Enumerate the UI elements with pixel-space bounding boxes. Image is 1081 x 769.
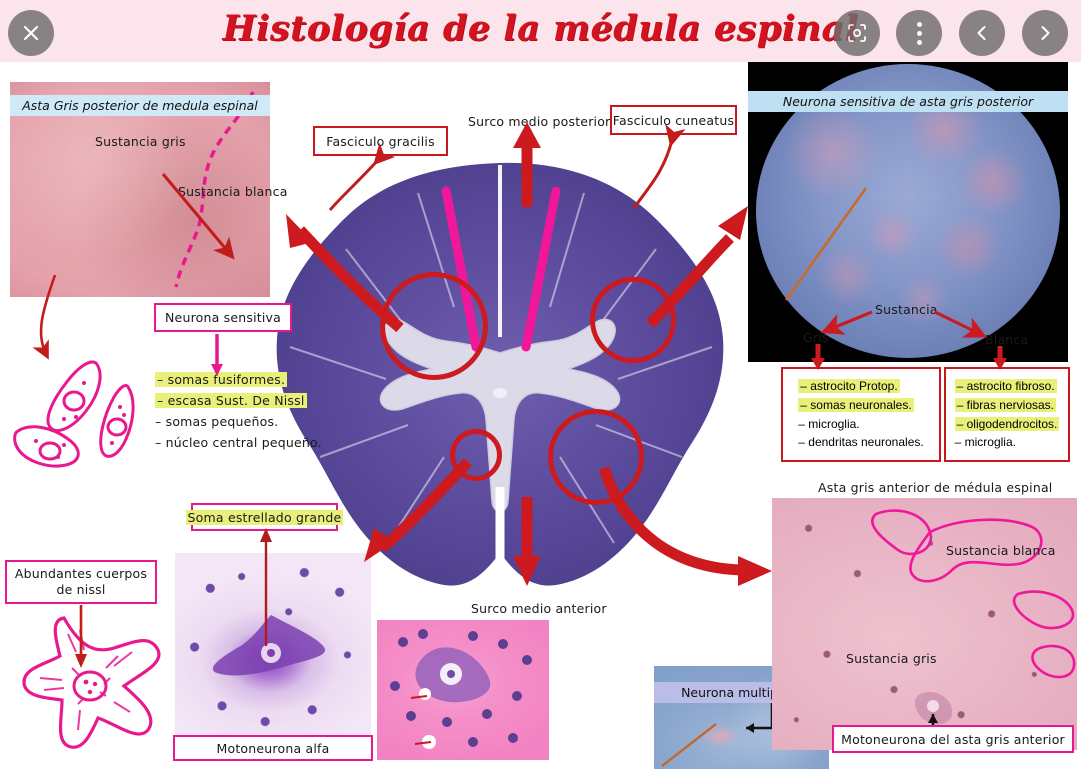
previous-button[interactable]: [959, 10, 1005, 56]
chevron-left-icon: [973, 24, 991, 42]
top-right-caption: Neurona sensitiva de asta gris posterior: [748, 91, 1068, 112]
substance-right-branch-label: Blanca: [985, 332, 1028, 347]
white-item-2: – oligodendrocitos.: [955, 417, 1060, 431]
sensory-neuron-bullets: – somas fusiformes. – escasa Sust. De Ni…: [155, 372, 322, 450]
bullet-3: – núcleo central pequeño.: [155, 435, 322, 450]
white-substance-box: – astrocito fibroso. – fibras nerviosas.…: [944, 367, 1070, 462]
sensory-neuron-title-box: Neurona sensitiva: [154, 303, 292, 332]
annotation-circle-posterior-left: [380, 272, 488, 380]
top-left-label-gray: Sustancia gris: [95, 134, 186, 149]
gray-item-1: – somas neuronales.: [798, 398, 913, 412]
substance-root-label: Sustancia: [875, 302, 938, 317]
soma-shape-2: [377, 620, 549, 760]
bottom-right-label-white: Sustancia blanca: [946, 543, 1056, 558]
alpha-motoneuron-micrograph: [175, 553, 371, 749]
bottom-right-label-gray: Sustancia gris: [846, 651, 937, 666]
asta-gris-anterior-caption: Asta gris anterior de médula espinal: [818, 480, 1052, 495]
bullet-1: – escasa Sust. De Nissl: [155, 393, 307, 408]
label-surco-medio-posterior: Surco medio posterior: [468, 114, 610, 129]
more-vertical-icon: [917, 20, 922, 47]
viewer-header: Histología de la médula espinal: [0, 0, 1081, 62]
gray-substance-box: – astrocito Protop. – somas neuronales. …: [781, 367, 941, 462]
motoneurona-alfa-caption: Motoneurona alfa: [173, 735, 373, 761]
more-options-button[interactable]: [896, 10, 942, 56]
lens-scan-icon: [846, 22, 868, 44]
top-left-caption: Asta Gris posterior de medula espinal: [10, 95, 270, 116]
label-fasciculo-gracilis: Fasciculo gracilis: [313, 126, 448, 156]
annotation-circle-anterior-right: [548, 409, 644, 505]
motoneurona-asta-gris-box: Motoneurona del asta gris anterior: [832, 725, 1074, 753]
fusiform-neuron-sketch: [8, 357, 153, 477]
white-item-1: – fibras nerviosas.: [955, 398, 1056, 412]
gray-item-0: – astrocito Protop.: [798, 379, 899, 393]
close-icon: [21, 23, 41, 43]
substance-left-branch-label: Gris: [803, 330, 829, 345]
lens-scan-button[interactable]: [834, 10, 880, 56]
bullet-0: – somas fusiformes.: [155, 372, 287, 387]
chevron-right-icon: [1036, 24, 1054, 42]
bullet-2: – somas pequeños.: [155, 414, 278, 429]
label-fasciculo-cuneatus: Fasciculo cuneatus: [610, 105, 737, 135]
next-button[interactable]: [1022, 10, 1068, 56]
soma-shape: [175, 553, 371, 749]
pink-motoneuron-micrograph: [377, 620, 549, 760]
white-item-3: – microglia.: [955, 435, 1016, 449]
annotation-circle-posterior-right: [590, 277, 676, 363]
gray-item-2: – microglia.: [798, 417, 859, 431]
bottom-right-micrograph: [772, 498, 1077, 750]
label-surco-medio-anterior: Surco medio anterior: [471, 601, 607, 616]
nissl-title-box: Abundantes cuerpos de nissl: [5, 560, 157, 604]
white-matter-outline: [772, 498, 1077, 750]
soma-estrellado-box: Soma estrellado grande: [191, 503, 338, 531]
spinal-cord-cross-section: [268, 157, 733, 617]
gray-item-3: – dendritas neuronales.: [798, 435, 923, 449]
star-neuron-sketch: [18, 612, 164, 752]
annotation-circle-anterior-left: [450, 429, 502, 481]
close-button[interactable]: [8, 10, 54, 56]
poster-canvas: Asta Gris posterior de medula espinal Su…: [0, 62, 1081, 769]
white-item-0: – astrocito fibroso.: [955, 379, 1057, 393]
